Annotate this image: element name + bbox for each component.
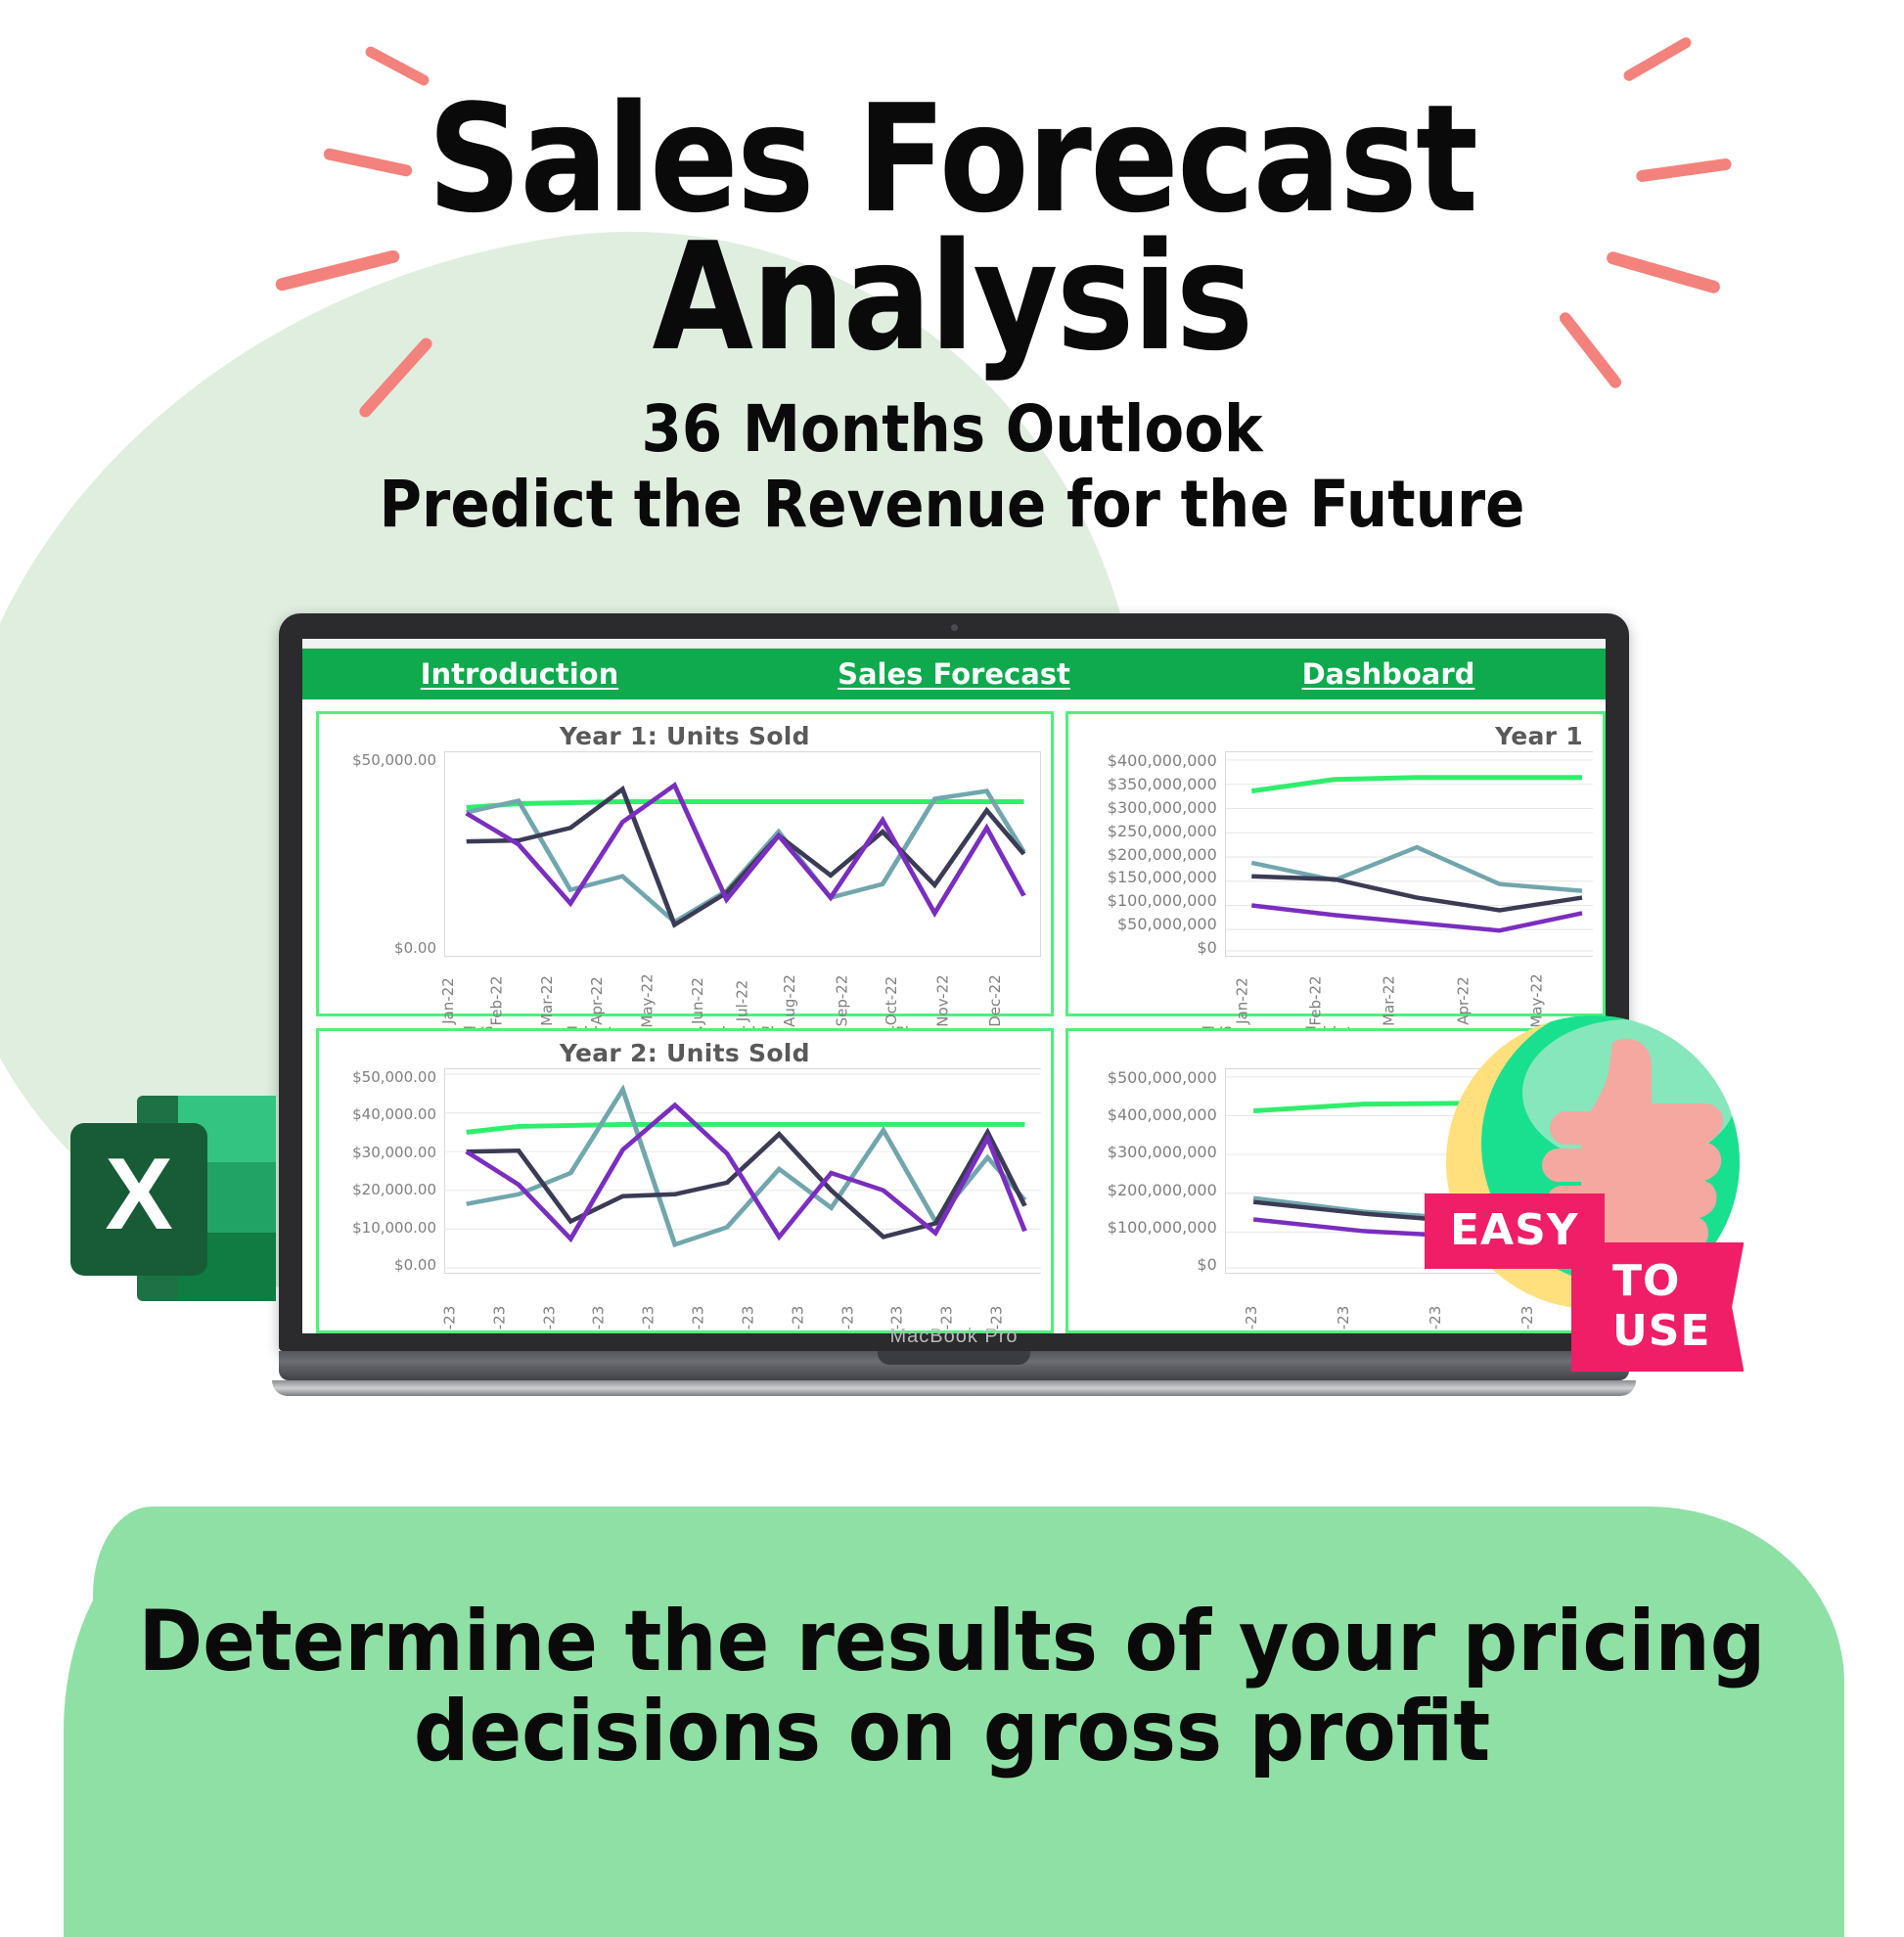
chart-yaxis-year1-revenue: $400,000,000 $350,000,000 $300,000,000 $… (1078, 751, 1225, 957)
xtick: -23 (1335, 1272, 1391, 1333)
xtick: Mar-22 (1381, 964, 1437, 1037)
nav-tab-sales-forecast[interactable]: Sales Forecast (737, 657, 1171, 691)
ytick: $10,000.00 (352, 1219, 436, 1237)
xtick: Nov-22 (934, 974, 991, 1026)
excel-spreadsheet: Introduction Sales Forecast Dashboard Ye… (302, 639, 1606, 1333)
series-line-tablets (1251, 847, 1582, 891)
footer-tagline: Determine the results of your pricing de… (76, 1597, 1828, 1777)
ytick: $100,000,000 (1108, 1218, 1217, 1237)
ytick: $500,000,000 (1108, 1068, 1217, 1087)
ytick: $400,000,000 (1108, 751, 1217, 770)
chart-card-year1-revenue[interactable]: Year 1 $400,000,000 $350,000,000 $300,00… (1065, 711, 1606, 1016)
badge-ribbon-to-use: TO USE (1571, 1242, 1744, 1372)
series-line-tvs (467, 1124, 1025, 1132)
xtick: Dec-22 (986, 974, 1043, 1027)
ytick: $200,000,000 (1108, 1181, 1217, 1199)
ytick: $0 (1197, 938, 1216, 957)
page-subtitle: 36 Months Outlook Predict the Revenue fo… (95, 394, 1808, 540)
chart-svg-year1-units (445, 752, 1040, 956)
xtick: Oct-22 (884, 976, 940, 1025)
chart-svg-year1-revenue (1226, 752, 1593, 956)
ytick: $0.00 (394, 1256, 436, 1274)
series-line-tvs (467, 802, 1024, 808)
chart-yaxis-year2-revenue: $500,000,000 $400,000,000 $300,000,000 $… (1078, 1068, 1225, 1274)
ytick: $50,000,000 (1117, 915, 1217, 933)
chart-title-year1-revenue: Year 1 (1078, 722, 1593, 751)
chart-card-year1-units[interactable]: Year 1: Units Sold $50,000.00 $0.00 (316, 711, 1054, 1016)
ytick: $150,000,000 (1108, 868, 1217, 886)
spreadsheet-navbar: Introduction Sales Forecast Dashboard (302, 649, 1606, 699)
nav-tab-dashboard[interactable]: Dashboard (1171, 657, 1606, 691)
excel-logo-letter: X (105, 1138, 172, 1251)
burst-dash-right-1 (1621, 35, 1693, 83)
laptop-screen: Introduction Sales Forecast Dashboard Ye… (302, 639, 1606, 1333)
ytick: $40,000.00 (352, 1105, 436, 1123)
formula-bar (302, 639, 1606, 649)
laptop-foot (272, 1380, 1636, 1396)
page-subtitle-line1: 36 Months Outlook (642, 391, 1263, 467)
footer-tagline-line1: Determine the results of your pricing (76, 1597, 1828, 1687)
ytick: $350,000,000 (1108, 775, 1217, 793)
chart-plot-year1-units (444, 751, 1041, 957)
chart-yaxis-year1-units: $50,000.00 $0.00 (329, 751, 444, 957)
dashboard-chart-grid: Year 1: Units Sold $50,000.00 $0.00 (302, 699, 1606, 1333)
ytick: $20,000.00 (352, 1181, 436, 1198)
laptop-camera (951, 624, 958, 631)
chart-xaxis-year2-units: -23 -23 -23 -23 -23 -23 -23 -23 -23 -23 … (444, 1274, 1041, 1333)
footer-tagline-line2: decisions on gross profit (76, 1687, 1828, 1777)
laptop-trackpad-notch (878, 1351, 1030, 1365)
ytick: $200,000,000 (1108, 845, 1217, 864)
chart-svg-year2-units (445, 1069, 1041, 1273)
xtick: -23 (1243, 1272, 1299, 1333)
ytick: $100,000,000 (1108, 891, 1217, 910)
burst-dash-left-1 (364, 45, 431, 88)
laptop-mockup: Introduction Sales Forecast Dashboard Ye… (279, 613, 1629, 1396)
easy-to-use-badge: EASY TO USE (1446, 1015, 1740, 1309)
ytick: $250,000,000 (1108, 822, 1217, 840)
page-title-line1: Sales Forecast (114, 90, 1790, 228)
ytick: $300,000,000 (1108, 798, 1217, 817)
xtick: May-22 (639, 973, 696, 1027)
chart-title-year1-units: Year 1: Units Sold (329, 722, 1041, 751)
series-line-iphones (1251, 905, 1582, 930)
laptop-model-label: MacBook Pro (279, 1326, 1629, 1348)
ytick: $300,000,000 (1108, 1143, 1217, 1161)
thumb-finger-1 (1550, 1111, 1630, 1145)
ytick: $400,000,000 (1108, 1105, 1217, 1124)
xtick: Feb-22 (1307, 964, 1364, 1037)
ytick: $50,000.00 (352, 751, 436, 769)
ytick: $0.00 (394, 939, 436, 957)
page-title-line2: Analysis (114, 228, 1790, 366)
ytick: $50,000.00 (352, 1068, 436, 1086)
page-title-block: Sales Forecast Analysis 36 Months Outloo… (0, 90, 1904, 539)
laptop-base: MacBook Pro (279, 1351, 1629, 1380)
chart-plot-year2-units (444, 1068, 1041, 1274)
xtick: Jan-22 (1233, 964, 1290, 1037)
xtick: Mar-22 (538, 975, 595, 1026)
ytick: $30,000.00 (352, 1144, 436, 1161)
chart-plot-year1-revenue (1225, 751, 1593, 957)
xtick: Sep-22 (833, 975, 889, 1027)
chart-title-year2-units: Year 2: Units Sold (329, 1039, 1041, 1068)
chart-yaxis-year2-units: $50,000.00 $40,000.00 $30,000.00 $20,000… (329, 1068, 444, 1274)
chart-card-year2-units[interactable]: Year 2: Units Sold $50,000.00 $40,000.00… (316, 1028, 1054, 1333)
microsoft-excel-logo: X (70, 1086, 276, 1311)
ytick: $0 (1197, 1255, 1216, 1274)
xtick: Apr-22 (587, 976, 644, 1025)
xtick: Feb-22 (487, 975, 544, 1025)
chart-xaxis-year1-units: Jan-22 Feb-22 Mar-22 Apr-22 May-22 Jun-2… (444, 957, 1041, 1029)
xtick: Aug-22 (781, 974, 838, 1027)
thumb-finger-2 (1542, 1149, 1630, 1182)
page-subtitle-line2: Predict the Revenue for the Future (95, 470, 1808, 539)
nav-tab-introduction[interactable]: Introduction (302, 657, 737, 691)
